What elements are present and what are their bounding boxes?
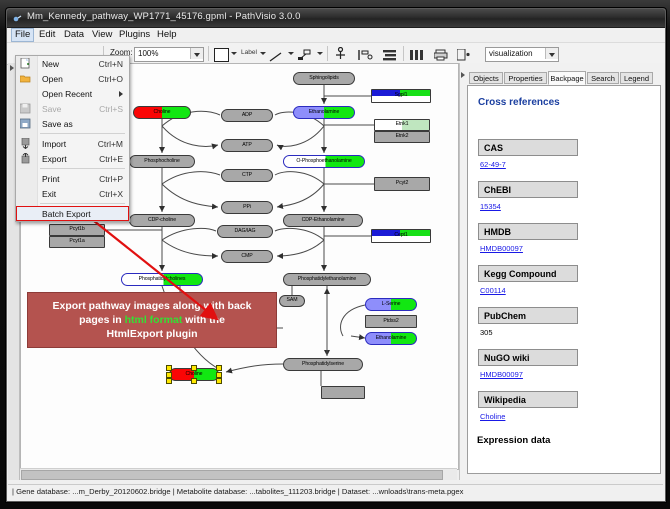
- node-label: ATP: [242, 143, 251, 148]
- menu-item-exit[interactable]: ExitCtrl+X: [16, 186, 129, 201]
- pathway-node-ethanolamine2[interactable]: Ethanolamine: [365, 332, 417, 345]
- menu-item-label: Open: [42, 74, 63, 84]
- node-label: CTP: [242, 173, 252, 178]
- menu-item-label: Print: [42, 174, 59, 184]
- expression-data-heading: Expression data: [477, 435, 550, 446]
- pathvisio-app-icon: [12, 12, 23, 23]
- node-label: Choline: [154, 110, 171, 115]
- selection-handle-3[interactable]: [166, 372, 172, 378]
- canvas-hscrollbar[interactable]: [20, 468, 457, 480]
- xref-value-pubchem: 305: [480, 328, 493, 337]
- label-dropdown-arrow[interactable]: [260, 52, 266, 55]
- ruler-marker-icon: [10, 65, 14, 71]
- menu-file[interactable]: File: [11, 28, 34, 42]
- gene-label: Sgpl1: [395, 93, 408, 98]
- xref-value-nugo[interactable]: HMDB00097: [480, 370, 523, 379]
- menu-plugins[interactable]: Plugins: [116, 29, 153, 41]
- toolbar-separator-2: [208, 46, 209, 61]
- menu-item-label: Import: [42, 139, 66, 149]
- menu-item-accelerator: Ctrl+M: [98, 139, 123, 149]
- pathway-node-adp[interactable]: ADP: [221, 109, 273, 122]
- xref-source-pubchem: PubChem: [478, 307, 578, 324]
- menu-item-label: Save as: [42, 119, 73, 129]
- node-label: Ethanolamine: [309, 110, 340, 115]
- gene-label: Etnk2: [396, 134, 409, 139]
- menu-item-save: SaveCtrl+S: [16, 101, 129, 116]
- menu-edit[interactable]: Edit: [36, 29, 58, 41]
- pathway-node-sam[interactable]: SAM: [279, 295, 305, 307]
- pathway-node-ethanolamine1[interactable]: Ethanolamine: [293, 106, 355, 119]
- xref-value-cas[interactable]: 62-49-7: [480, 160, 506, 169]
- canvas-hscrollbar-thumb[interactable]: [21, 470, 443, 480]
- pathway-gene-ptdss2[interactable]: Ptdss2: [365, 315, 417, 328]
- submenu-chevron-icon: [119, 91, 123, 97]
- menu-item-label: Save: [42, 104, 61, 114]
- window-titlebar: Mm_Kennedy_pathway_WP1771_45176.gpml - P…: [7, 9, 665, 28]
- pathway-gene-etnk1[interactable]: Etnk1: [374, 119, 430, 131]
- selection-handle-2[interactable]: [216, 365, 222, 371]
- menu-item-label: Open Recent: [42, 89, 92, 99]
- node-label: SAM: [287, 298, 298, 303]
- node-label: CDP-Ethanolamine: [302, 218, 345, 223]
- tab-backpage[interactable]: Backpage: [548, 71, 586, 85]
- menu-separator: [40, 203, 125, 204]
- node-label: Choline: [186, 372, 203, 377]
- menu-item-accelerator: Ctrl+O: [98, 74, 123, 84]
- pathway-node-phosphatidylethanolamine[interactable]: Phosphatidylethanolamine: [283, 273, 371, 286]
- node-label: L-Serine: [382, 302, 401, 307]
- pathway-node-ctp[interactable]: CTP: [221, 169, 273, 182]
- window-title: Mm_Kennedy_pathway_WP1771_45176.gpml - P…: [27, 11, 301, 22]
- menu-item-save-as[interactable]: Save as: [16, 116, 129, 131]
- zoom-combobox[interactable]: 100%: [134, 47, 204, 62]
- pathway-gene-cept1[interactable]: Cept1: [371, 229, 431, 243]
- pathway-node-ophosphoethanolamine[interactable]: O-Phosphoethanolamine: [283, 155, 365, 168]
- node-label: Phosphatidylethanolamine: [298, 277, 356, 282]
- screenshot-root: Mm_Kennedy_pathway_WP1771_45176.gpml - P…: [0, 0, 670, 509]
- menu-separator: [40, 133, 125, 134]
- pathway-gene-pcyt2[interactable]: Pcyt2: [374, 177, 430, 191]
- menu-data[interactable]: Data: [61, 29, 87, 41]
- cross-references-heading: Cross references: [478, 97, 560, 108]
- menu-item-import[interactable]: ImportCtrl+M: [16, 136, 129, 151]
- pathway-node-atp[interactable]: ATP: [221, 139, 273, 152]
- zoom-value: 100%: [138, 49, 158, 58]
- pathway-gene-sgpl1[interactable]: Sgpl1: [371, 89, 431, 103]
- save-as-icon: [20, 118, 31, 129]
- backpage-content: Cross references CAS 62-49-7 ChEBI 15354…: [467, 85, 661, 474]
- node-label: ADP: [242, 113, 252, 118]
- node-label: Phosphocholine: [144, 159, 180, 164]
- xref-value-chebi[interactable]: 15354: [480, 202, 501, 211]
- menu-separator: [40, 168, 125, 169]
- menubar: File Edit Data View Plugins Help: [7, 28, 665, 43]
- save-disk-icon: [20, 103, 31, 114]
- menu-item-new[interactable]: NewCtrl+N: [16, 56, 129, 71]
- visualization-value: visualization: [489, 49, 533, 58]
- chevron-down-icon-2: [549, 53, 555, 57]
- selection-handle-4[interactable]: [216, 372, 222, 378]
- chevron-down-icon: [194, 53, 200, 57]
- xref-value-hmdb[interactable]: HMDB00097: [480, 244, 523, 253]
- callout-line3: HtmlExport plugin: [53, 327, 252, 341]
- sidebar-tabstrip: Objects Properties Backpage Search Legen…: [460, 71, 665, 85]
- menu-item-batch-export[interactable]: Batch Export: [16, 206, 129, 221]
- xref-value-wikipedia[interactable]: Choline: [480, 412, 505, 421]
- toolbar-separator-3: [327, 46, 328, 61]
- menu-item-export[interactable]: ExportCtrl+E: [16, 151, 129, 166]
- node-label: O-Phosphoethanolamine: [296, 159, 351, 164]
- pathway-node-phosphocholine[interactable]: Phosphocholine: [129, 155, 195, 168]
- gene-label: Pcyt2: [396, 181, 408, 186]
- sidebar-panel: Objects Properties Backpage Search Legen…: [459, 63, 665, 480]
- pathway-node-lserine[interactable]: L-Serine: [365, 298, 417, 311]
- node-label: Phosphatidylserine: [302, 362, 344, 367]
- pathway-node-choline1[interactable]: Choline: [133, 106, 191, 119]
- file-menu-items: NewCtrl+NOpenCtrl+OOpen RecentSaveCtrl+S…: [16, 56, 129, 221]
- menu-item-accelerator: Ctrl+N: [99, 59, 123, 69]
- menu-item-label: Exit: [42, 189, 56, 199]
- new-document-icon: [20, 58, 31, 69]
- tab-objects[interactable]: Objects: [469, 72, 503, 84]
- node-label: Sphingolipids: [309, 76, 339, 81]
- file-menu-dropdown[interactable]: NewCtrl+NOpenCtrl+OOpen RecentSaveCtrl+S…: [15, 55, 130, 222]
- tab-properties[interactable]: Properties: [504, 72, 547, 84]
- export-icon: [20, 153, 31, 164]
- statusbar-text: | Gene database: ...m_Derby_20120602.bri…: [12, 487, 463, 496]
- tab-search[interactable]: Search: [587, 72, 619, 84]
- pathvisio-window: Mm_Kennedy_pathway_WP1771_45176.gpml - P…: [6, 8, 666, 502]
- statusbar: | Gene database: ...m_Derby_20120602.bri…: [8, 484, 663, 500]
- tab-legend[interactable]: Legend: [620, 72, 653, 84]
- menu-item-label: Export: [42, 154, 67, 164]
- toolbar-separator-4: [403, 46, 404, 61]
- menu-item-open-recent[interactable]: Open Recent: [16, 86, 129, 101]
- pathway-gene-etnk2[interactable]: Etnk2: [374, 131, 430, 143]
- menu-help[interactable]: Help: [154, 29, 180, 41]
- pathway-node-sphingolipids[interactable]: Sphingolipids: [293, 72, 355, 85]
- pathway-gene-pla2[interactable]: [321, 386, 365, 399]
- selection-handle-6[interactable]: [191, 378, 197, 384]
- menu-item-label: New: [42, 59, 59, 69]
- label-tool-text[interactable]: Label: [241, 49, 257, 56]
- selection-handle-1[interactable]: [191, 365, 197, 371]
- pathway-node-cdpethanolamine[interactable]: CDP-Ethanolamine: [283, 214, 363, 227]
- gene-label: Cept1: [394, 233, 407, 238]
- gene-label: Etnk1: [396, 122, 409, 127]
- datanode-dropdown-arrow[interactable]: [231, 52, 237, 55]
- gene-label: Ptdss2: [383, 319, 398, 324]
- menu-item-accelerator: Ctrl+X: [99, 189, 123, 199]
- xref-source-wikipedia: Wikipedia: [478, 391, 578, 408]
- node-label: Ethanolamine: [376, 336, 407, 341]
- line-dropdown-arrow[interactable]: [288, 52, 294, 55]
- xref-value-kegg[interactable]: C00114: [480, 286, 506, 295]
- xref-source-kegg: Kegg Compound: [478, 265, 578, 282]
- menu-item-label: Batch Export: [42, 209, 91, 219]
- selection-handle-5[interactable]: [166, 378, 172, 384]
- menu-view[interactable]: View: [89, 29, 115, 41]
- pathway-node-phosphatidylserine[interactable]: Phosphatidylserine: [283, 358, 363, 371]
- import-icon: [20, 138, 31, 149]
- selection-handle-0[interactable]: [166, 365, 172, 371]
- xref-source-hmdb: HMDB: [478, 223, 578, 240]
- xref-source-nugo: NuGO wiki: [478, 349, 578, 366]
- menu-item-accelerator: Ctrl+P: [99, 174, 123, 184]
- menu-item-accelerator: Ctrl+S: [99, 104, 123, 114]
- menu-item-open[interactable]: OpenCtrl+O: [16, 71, 129, 86]
- selection-handle-7[interactable]: [216, 378, 222, 384]
- visualization-combobox[interactable]: visualization: [485, 47, 559, 62]
- datanode-tool-icon[interactable]: [214, 48, 229, 62]
- menu-item-accelerator: Ctrl+E: [99, 154, 123, 164]
- interaction-dropdown-arrow[interactable]: [317, 52, 323, 55]
- xref-source-chebi: ChEBI: [478, 181, 578, 198]
- menu-item-print[interactable]: PrintCtrl+P: [16, 171, 129, 186]
- open-folder-icon: [20, 73, 31, 84]
- xref-source-cas: CAS: [478, 139, 578, 156]
